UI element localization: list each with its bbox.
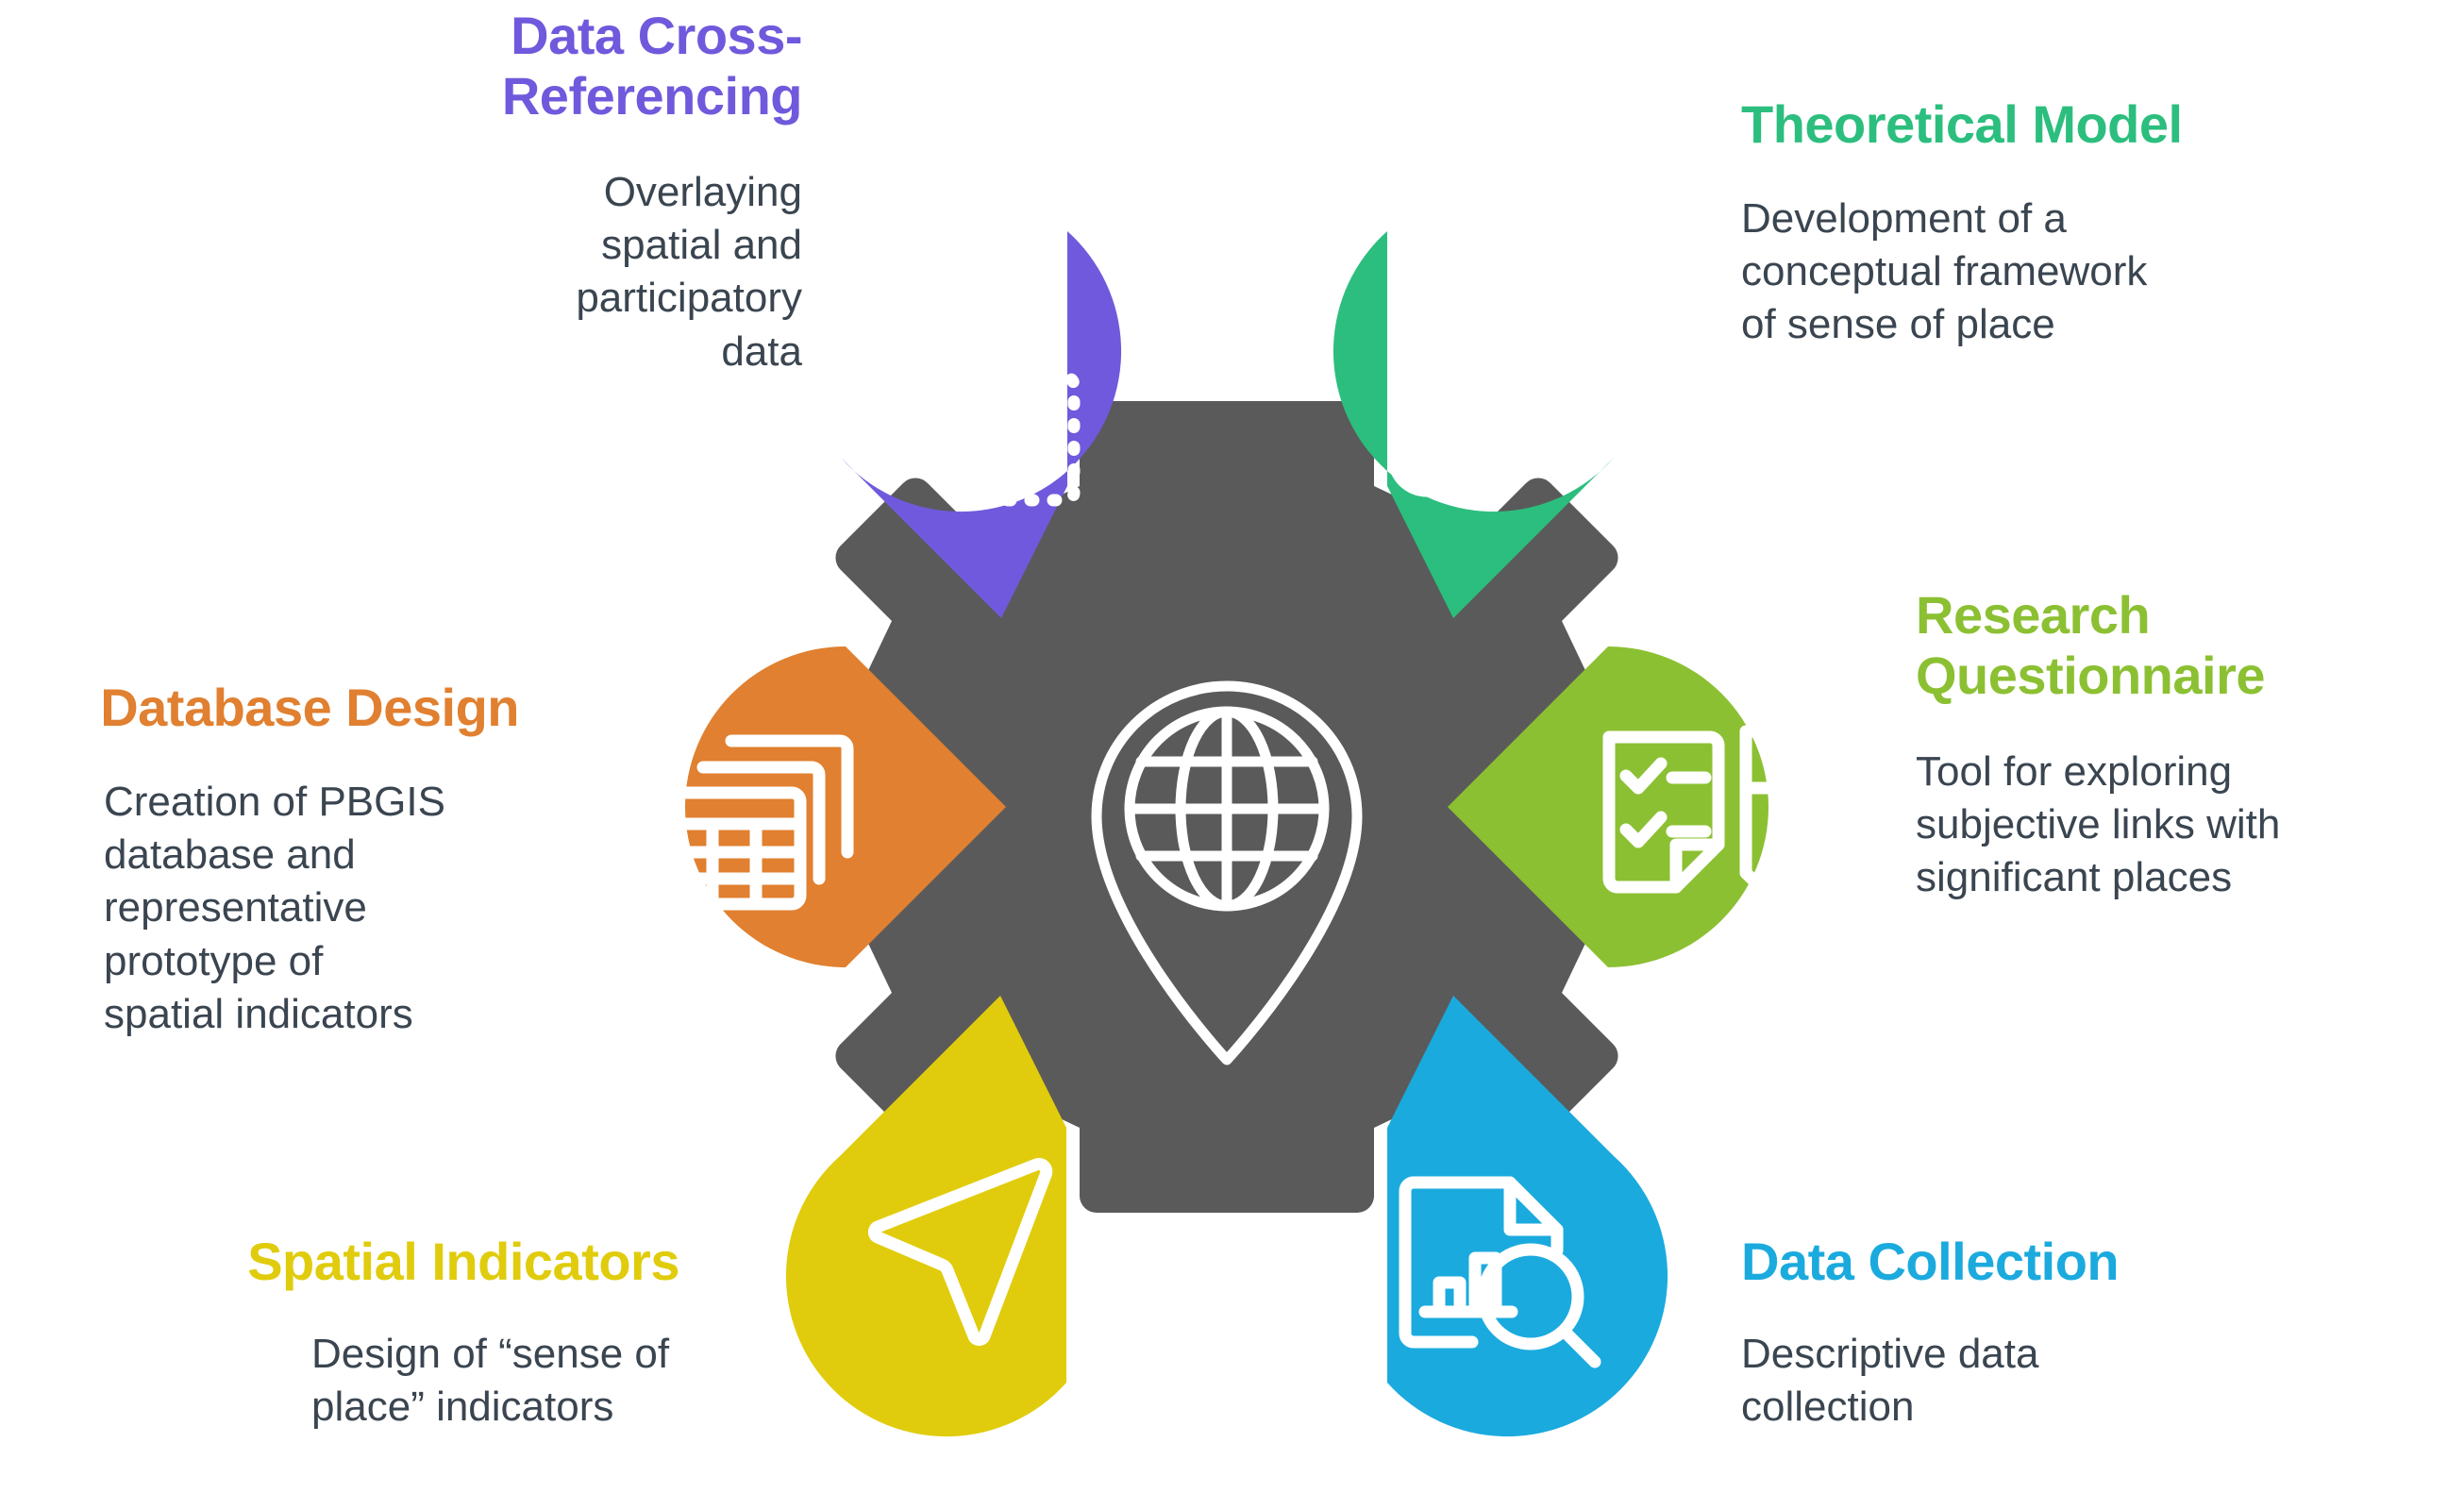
hub-and-spoke-graphic [566,175,1887,1439]
label-block-database-design: Database Design Creation of PBGIS databa… [9,678,519,1041]
node-description-database-design: Creation of PBGIS database and represent… [104,776,519,1042]
node-description-research-questionnaire: Tool for exploring subjective links with… [1916,746,2388,905]
overlapping-squares-icon [889,316,1074,500]
infographic-canvas: Data Cross- Referencing Overlaying spati… [0,0,2464,1493]
node-title-research-questionnaire: Research Questionnaire [1916,585,2444,706]
node-title-data-cross-referencing: Data Cross- Referencing [311,6,802,126]
node-branch-icon [1394,296,1560,491]
node-title-theoretical-model: Theoretical Model [1741,94,2402,155]
node-title-database-design: Database Design [9,678,519,738]
label-block-research-questionnaire: Research Questionnaire Tool for explorin… [1916,585,2444,905]
